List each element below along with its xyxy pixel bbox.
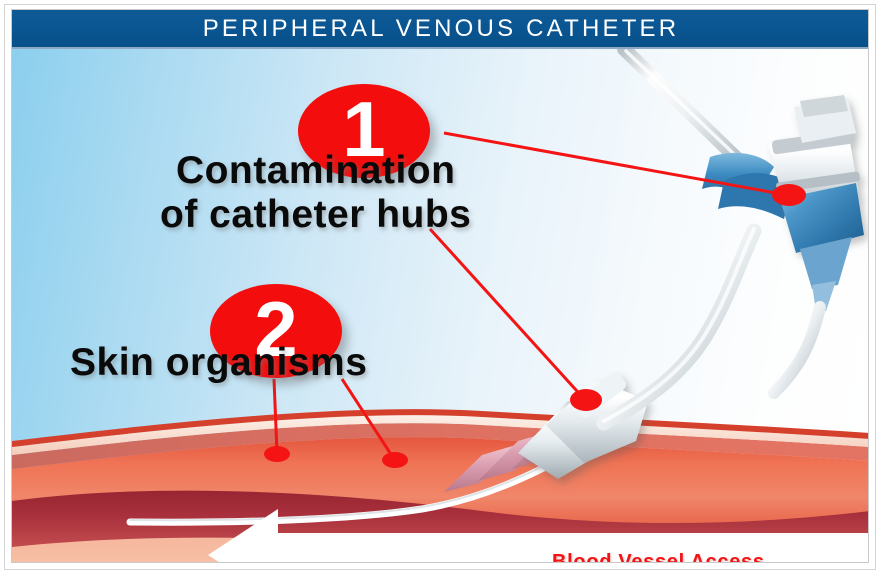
page-title: PERIPHERAL VENOUS CATHETER bbox=[203, 15, 680, 43]
leader-line-connector bbox=[430, 229, 586, 401]
illustration-canvas: 1 Contamination of catheter hubs 2 Skin … bbox=[12, 49, 869, 563]
dot-hub bbox=[772, 184, 806, 206]
dot-skin-right bbox=[382, 452, 408, 468]
diagram-card: PERIPHERAL VENOUS CATHETER bbox=[11, 9, 869, 563]
blood-vessel-access-label: Blood Vessel Access bbox=[552, 551, 765, 563]
dot-skin-left bbox=[264, 446, 290, 462]
callout-label-1: Contamination of catheter hubs bbox=[160, 149, 471, 236]
title-bar: PERIPHERAL VENOUS CATHETER bbox=[12, 10, 869, 49]
callout-label-1-line1: Contamination bbox=[160, 149, 471, 193]
screenshot-frame: PERIPHERAL VENOUS CATHETER bbox=[0, 0, 880, 574]
dot-connector bbox=[570, 389, 602, 411]
callout-label-1-line2: of catheter hubs bbox=[160, 193, 471, 237]
callout-label-2-line1: Skin organisms bbox=[70, 341, 367, 385]
anatomy-and-device-artwork bbox=[12, 49, 869, 563]
hub-outlet-tubing bbox=[774, 307, 820, 393]
callout-label-2: Skin organisms bbox=[70, 341, 367, 385]
